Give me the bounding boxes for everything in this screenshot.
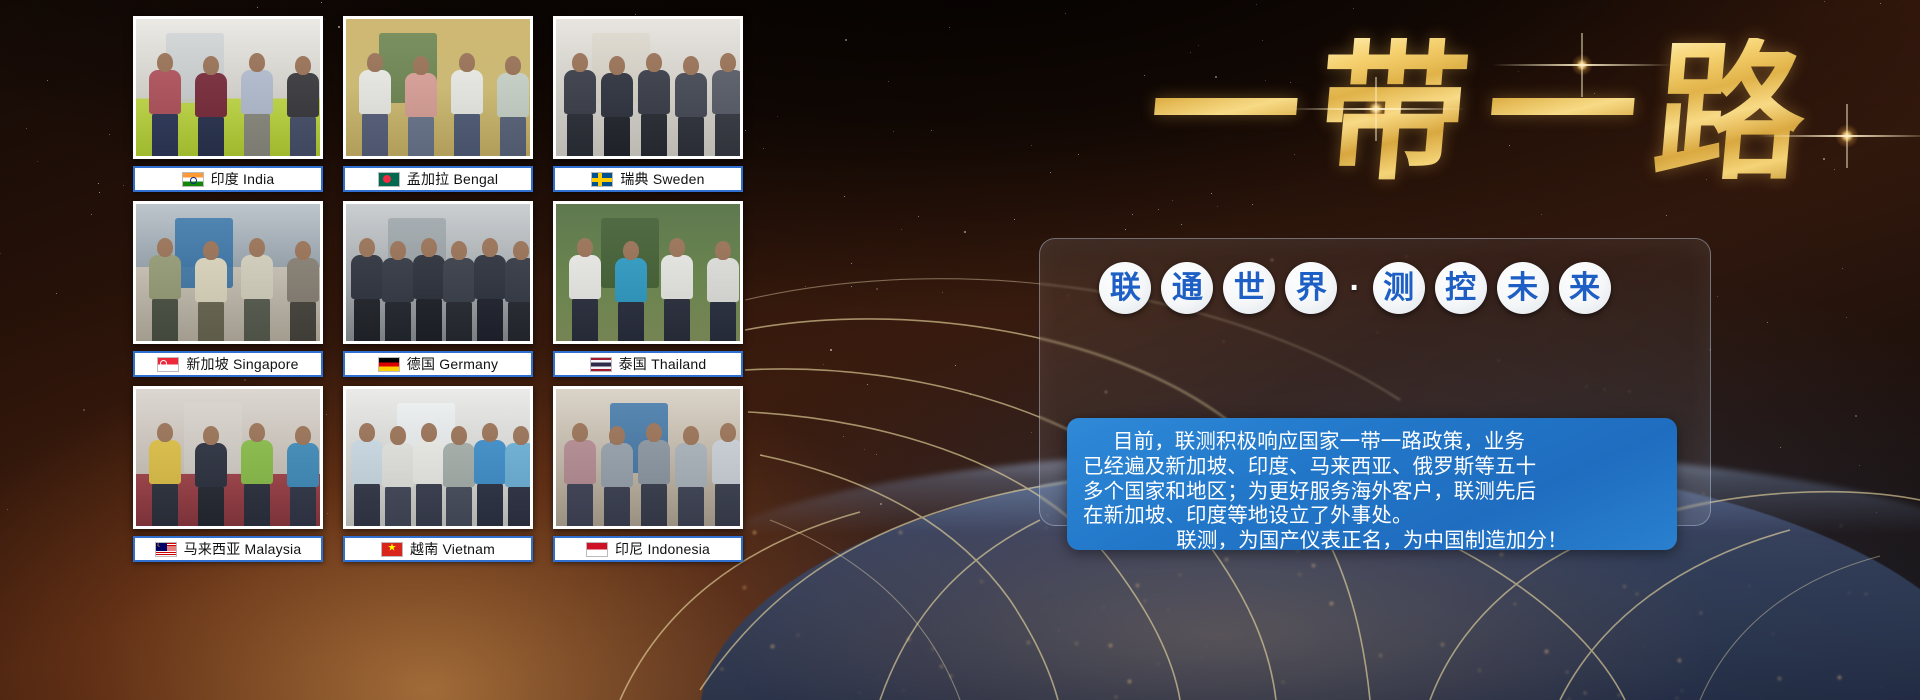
person-legs [290,116,316,159]
star [949,27,950,28]
photo-person [346,389,530,526]
person-legs [710,301,736,344]
headline-char-4: 路 [1648,38,1811,188]
country-label: 印尼 Indonesia [615,539,710,559]
slogan-badge-未: 未 [1497,262,1549,314]
star [761,455,762,456]
star [918,216,919,217]
photo-scene [136,204,320,341]
country-label: 马来西亚 Malaysia [184,539,302,559]
slogan-badge-测: 测 [1373,262,1425,314]
star [0,253,1,254]
star [805,286,806,287]
person-head [720,53,736,72]
star [1031,145,1032,146]
description-line-2: 已经遍及新加坡、印度、马来西亚、俄罗斯等五十 [1083,454,1661,479]
star [955,365,956,366]
person-torso [287,258,319,302]
star [880,503,882,505]
country-label: 泰国 Thailand [619,354,707,374]
headline-char-3: 一 [1480,38,1643,188]
photo-scene [556,19,740,156]
slogan-badge-通: 通 [1161,262,1213,314]
photo-scene [346,204,530,341]
photo-person [556,204,740,341]
photo-person [136,19,320,156]
gallery-tile[interactable]: 马来西亚 Malaysia [133,386,323,570]
photo-person [556,19,740,156]
photo-scene [346,19,530,156]
person-torso [287,443,319,487]
star [91,214,92,215]
country-caption[interactable]: 孟加拉 Bengal [343,166,533,192]
gallery-tile[interactable]: 孟加拉 Bengal [343,16,533,200]
country-caption[interactable]: 新加坡 Singapore [133,351,323,377]
country-photo-sweden[interactable] [553,16,743,159]
description-line-4: 在新加坡、印度等地设立了外事处。 [1083,503,1661,528]
star [942,292,943,293]
flag-vietnam-icon [381,542,403,557]
person-legs [508,486,533,529]
star [970,394,971,395]
star [321,2,322,3]
star [37,161,38,162]
person-legs [508,301,533,344]
star [888,81,889,82]
description-line-1: 目前，联测积极响应国家一带一路政策，业务 [1083,429,1661,454]
description-line-5: 联测，为国产仪表正名，为中国制造加分！ [1083,528,1661,550]
star [867,384,868,385]
country-photo-grid: 印度 India孟加拉 Bengal瑞典 Sweden新加坡 Singapore… [133,16,753,582]
gallery-tile[interactable]: 印度 India [133,16,323,200]
star [893,131,894,132]
country-photo-malaysia[interactable] [133,386,323,529]
person-torso [505,443,533,487]
star [1031,432,1032,433]
person-head [715,241,731,260]
country-photo-india[interactable] [133,16,323,159]
star [823,364,824,365]
person-head [295,426,311,445]
star [851,286,852,287]
star [931,130,932,131]
person-torso [712,440,743,484]
gallery-tile[interactable]: 瑞典 Sweden [553,16,743,200]
country-label: 瑞典 Sweden [620,169,704,189]
flag-thailand-icon [590,357,612,372]
country-photo-singapore[interactable] [133,201,323,344]
country-photo-indonesia[interactable] [553,386,743,529]
headline-calligraphy: 一带一路 [1035,8,1920,218]
person-head [505,56,521,75]
person-legs [290,301,316,344]
right-content-panel: 一带一路 [1035,0,1920,700]
person-head [295,241,311,260]
person-legs [715,483,741,529]
flag-malaysia-icon [155,542,177,557]
slogan-badges: 联通世界·测控未来 [1035,258,1675,318]
country-label: 孟加拉 Bengal [407,169,498,189]
person-legs [715,113,741,159]
flag-bangladesh-icon [378,172,400,187]
banner-stage: 印度 India孟加拉 Bengal瑞典 Sweden新加坡 Singapore… [0,0,1920,700]
photo-person [556,389,740,526]
star [635,14,636,15]
photo-scene [136,389,320,526]
photo-scene [346,389,530,526]
slogan-badge-界: 界 [1285,262,1337,314]
country-caption[interactable]: 德国 Germany [343,351,533,377]
slogan-badge-世: 世 [1223,262,1275,314]
country-label: 越南 Vietnam [410,539,495,559]
person-head [720,423,736,442]
star [843,436,844,437]
slogan-separator: · [1347,271,1362,305]
person-torso [505,258,533,302]
star [47,80,48,81]
description-box: 目前，联测积极响应国家一带一路政策，业务已经遍及新加坡、印度、马来西亚、俄罗斯等… [1067,418,1677,550]
gallery-tile[interactable]: 德国 Germany [343,201,533,385]
star [901,229,902,230]
country-caption[interactable]: 马来西亚 Malaysia [133,536,323,562]
headline-char-2: 带 [1312,38,1475,188]
photo-person [136,389,320,526]
photo-scene [136,19,320,156]
star [98,183,99,184]
flag-singapore-icon [157,357,179,372]
country-caption[interactable]: 越南 Vietnam [343,536,533,562]
star [851,263,852,264]
country-photo-bengal[interactable] [343,16,533,159]
person-head [513,426,529,445]
star [83,409,85,411]
country-photo-thailand[interactable] [553,201,743,344]
country-caption[interactable]: 泰国 Thailand [553,351,743,377]
country-label: 印度 India [211,169,275,189]
star [964,231,966,233]
photo-scene [556,204,740,341]
star [257,7,258,8]
star [876,454,877,455]
country-label: 新加坡 Singapore [186,354,298,374]
person-torso [712,70,743,114]
star [123,185,124,186]
flag-germany-icon [378,357,400,372]
star [7,509,8,510]
slogan-badge-控: 控 [1435,262,1487,314]
photo-person [346,204,530,341]
gallery-tile[interactable]: 印尼 Indonesia [553,386,743,570]
star [864,449,865,450]
person-legs [290,486,316,529]
country-photo-vietnam[interactable] [343,386,533,529]
person-torso [707,258,739,302]
flag-sweden-icon [591,172,613,187]
person-legs [500,116,526,159]
star [56,293,57,294]
person-torso [287,73,319,117]
flag-indonesia-icon [586,542,608,557]
star [1014,219,1015,220]
star [777,116,778,117]
star [1014,490,1015,491]
slogan-badge-来: 来 [1559,262,1611,314]
country-photo-germany[interactable] [343,201,533,344]
photo-person [136,204,320,341]
person-torso [497,73,529,117]
gallery-tile[interactable]: 泰国 Thailand [553,201,743,385]
country-caption[interactable]: 印尼 Indonesia [553,536,743,562]
headline-char-1: 一 [1144,38,1307,188]
gallery-tile[interactable]: 越南 Vietnam [343,386,533,570]
photo-scene [556,389,740,526]
description-line-3: 多个国家和地区；为更好服务海外客户，联测先后 [1083,479,1661,504]
star [109,134,110,135]
country-caption[interactable]: 印度 India [133,166,323,192]
star [26,128,27,129]
flag-india-icon [182,172,204,187]
gallery-tile[interactable]: 新加坡 Singapore [133,201,323,385]
star [844,196,845,197]
photo-person [346,19,530,156]
star [830,349,832,351]
slogan-badge-联: 联 [1099,262,1151,314]
country-caption[interactable]: 瑞典 Sweden [553,166,743,192]
star [845,39,847,41]
person-head [295,56,311,75]
star [876,288,878,290]
star [763,148,764,149]
star [99,192,100,193]
country-label: 德国 Germany [407,354,498,374]
person-head [513,241,529,260]
